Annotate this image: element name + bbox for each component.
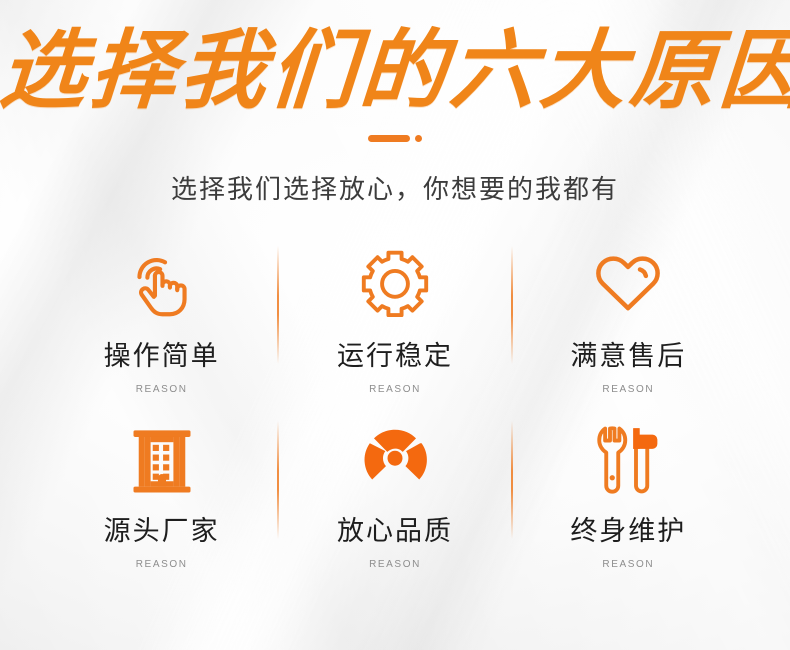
factory-building-icon (124, 419, 200, 501)
divider-bar-icon (368, 135, 410, 142)
wrench-hammer-icon (588, 419, 668, 501)
feature-sublabel: REASON (136, 384, 188, 395)
feature-item-operation-simple[interactable]: 操作简单 REASON (45, 240, 278, 415)
feature-item-assured-quality[interactable]: 放心品质 REASON (278, 415, 511, 590)
feature-sublabel: REASON (369, 384, 421, 395)
divider-dot-icon (415, 135, 422, 142)
feature-label: 操作简单 (104, 334, 220, 373)
feature-label: 满意售后 (570, 334, 686, 373)
feature-item-after-sales[interactable]: 满意售后 REASON (512, 240, 745, 415)
gear-icon (356, 244, 434, 326)
feature-sublabel: REASON (136, 559, 188, 570)
feature-label: 终身维护 (570, 509, 686, 548)
feature-label: 运行稳定 (337, 334, 453, 373)
title-divider (0, 133, 790, 143)
feature-sublabel: REASON (369, 559, 421, 570)
feature-sublabel: REASON (602, 559, 654, 570)
feature-item-lifetime-maintenance[interactable]: 终身维护 REASON (512, 415, 745, 590)
banner-header: 选择我们的六大原因 选择我们选择放心，你想要的我都有 (0, 0, 790, 206)
feature-item-source-factory[interactable]: 源头厂家 REASON (45, 415, 278, 590)
feature-item-stable-operation[interactable]: 运行稳定 REASON (278, 240, 511, 415)
feature-sublabel: REASON (602, 384, 654, 395)
page-subtitle: 选择我们选择放心，你想要的我都有 (0, 169, 790, 206)
promo-banner: 选择我们的六大原因 选择我们选择放心，你想要的我都有 操作简单 (0, 0, 790, 650)
feature-label: 放心品质 (337, 509, 453, 548)
feature-label: 源头厂家 (104, 509, 220, 548)
page-title: 选择我们的六大原因 (0, 26, 790, 117)
feature-grid: 操作简单 REASON 运行稳定 REASON (45, 240, 745, 590)
radiation-quality-icon (357, 419, 433, 501)
heart-icon (588, 244, 668, 326)
tap-hand-icon (123, 244, 201, 326)
